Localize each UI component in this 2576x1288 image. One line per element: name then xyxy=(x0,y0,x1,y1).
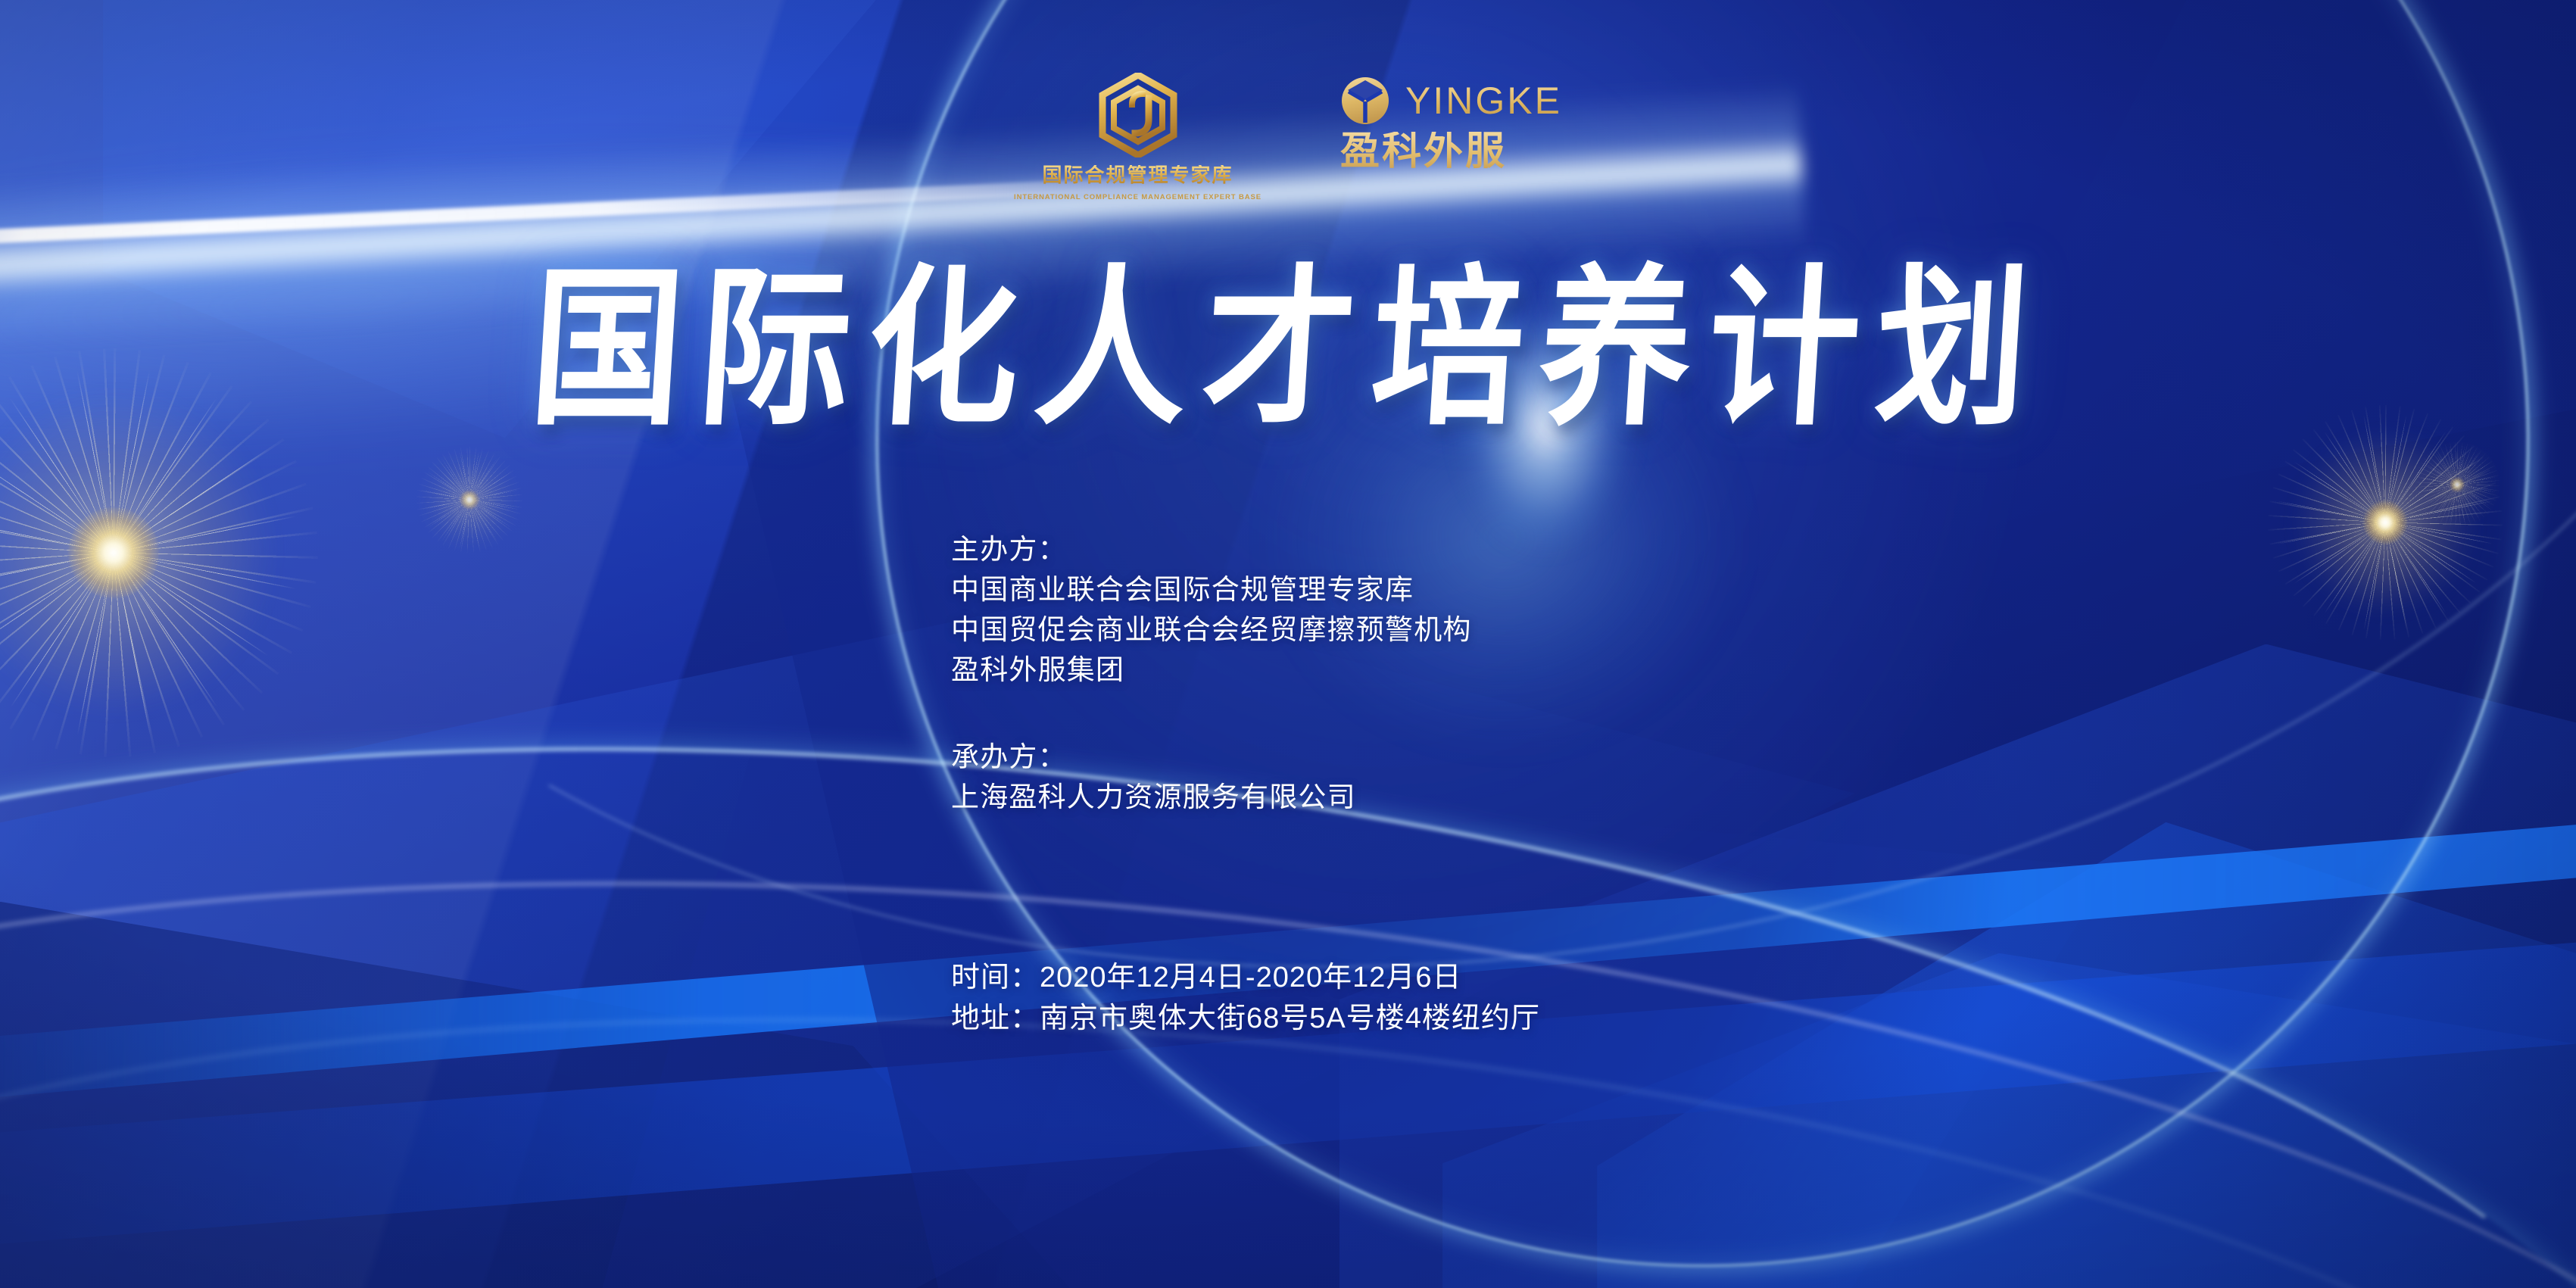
organizers-block: 主办方： 中国商业联合会国际合规管理专家库 中国贸促会商业联合会经贸摩擦预警机构… xyxy=(951,530,1472,691)
event-address: 地址：南京市奥体大街68号5A号楼4楼纽约厅 xyxy=(951,999,1540,1040)
undertaker-label: 承办方： xyxy=(951,738,1472,778)
poster-title: 国际化人才培养计划 xyxy=(0,258,2576,440)
event-time: 时间：2020年12月4日-2020年12月6日 xyxy=(951,958,1540,999)
logo-yingke: YINGKE 盈科外服 xyxy=(1340,73,1562,171)
organizer-item: 中国商业联合会国际合规管理专家库 xyxy=(951,570,1472,610)
undertaker-block: 承办方： 上海盈科人力资源服务有限公司 xyxy=(951,738,1472,818)
poster-canvas: 国际合规管理专家库 INTERNATIONAL COMPLIANCE MANAG… xyxy=(0,0,2576,1288)
info-block: 主办方： 中国商业联合会国际合规管理专家库 中国贸促会商业联合会经贸摩擦预警机构… xyxy=(951,530,1472,817)
organizer-item: 盈科外服集团 xyxy=(951,650,1472,691)
logo-compliance-en-name: INTERNATIONAL COMPLIANCE MANAGEMENT EXPE… xyxy=(1014,194,1261,201)
logo-compliance-cn-name: 国际合规管理专家库 xyxy=(1043,165,1233,185)
organizer-item: 中国贸促会商业联合会经贸摩擦预警机构 xyxy=(951,610,1472,650)
logo-row: 国际合规管理专家库 INTERNATIONAL COMPLIANCE MANAG… xyxy=(0,73,2576,201)
logo-yingke-latin: YINGKE xyxy=(1405,82,1562,120)
hexagon-compliance-logo-icon xyxy=(1099,73,1177,157)
logo-yingke-cn-name: 盈科外服 xyxy=(1340,132,1507,171)
logo-compliance-expert-base: 国际合规管理专家库 INTERNATIONAL COMPLIANCE MANAG… xyxy=(1014,73,1261,201)
organizers-label: 主办方： xyxy=(951,530,1472,570)
yingke-circle-logo-icon xyxy=(1340,76,1390,126)
event-details-block: 时间：2020年12月4日-2020年12月6日 地址：南京市奥体大街68号5A… xyxy=(951,958,1540,1040)
undertaker-item: 上海盈科人力资源服务有限公司 xyxy=(951,778,1472,818)
